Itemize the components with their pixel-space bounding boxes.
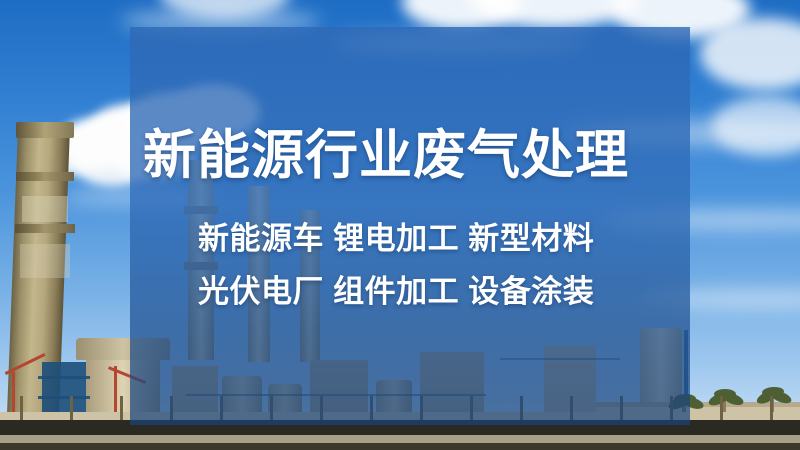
- subtitle-line-2: 光伏电厂 组件加工 设备涂装: [198, 274, 594, 310]
- smokestack-cap: [16, 122, 74, 138]
- road-shadow: [0, 443, 800, 450]
- banner-text-block: 新能源行业废气处理 新能源车 锂电加工 新型材料 光伏电厂 组件加工 设备涂装: [130, 27, 690, 425]
- subtitle-line-1: 新能源车 锂电加工 新型材料: [198, 221, 594, 257]
- crane-jib: [5, 353, 46, 375]
- smokestack-band: [16, 172, 74, 181]
- smokestack-band: [15, 224, 75, 233]
- main-title: 新能源行业废气处理: [143, 127, 629, 185]
- smokestack-ring: [22, 196, 68, 222]
- banner-image: 新能源行业废气处理 新能源车 锂电加工 新型材料 光伏电厂 组件加工 设备涂装: [0, 0, 800, 450]
- smokestack-ring: [20, 244, 70, 278]
- frame-beam: [38, 376, 90, 379]
